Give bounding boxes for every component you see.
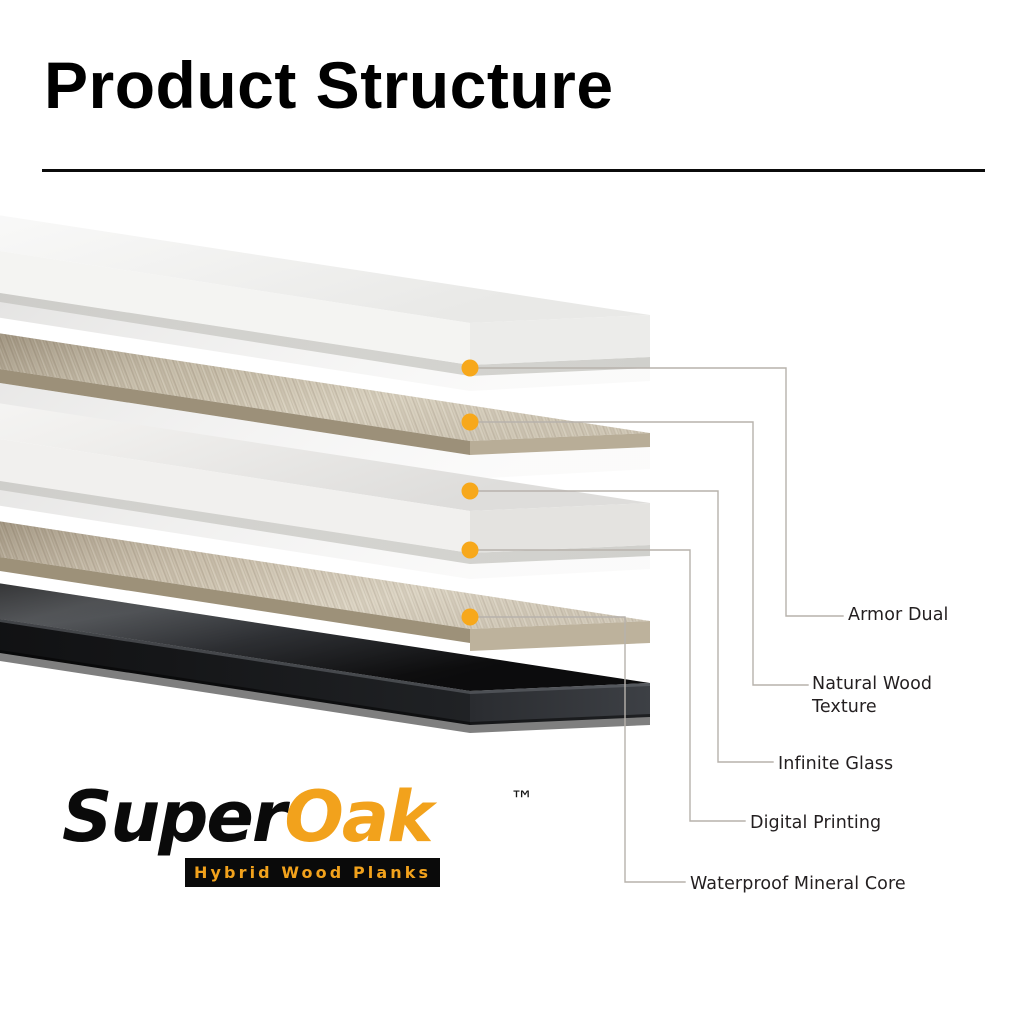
trademark-symbol: ™ [510, 786, 534, 814]
brand-logo: SuperOak ™ Hybrid Wood Planks [62, 782, 562, 894]
title-divider [42, 169, 985, 172]
exploded-layer-diagram [0, 205, 700, 735]
logo-word-accent: Oak [284, 776, 431, 858]
logo-wordmark: SuperOak [62, 782, 432, 852]
logo-tagline-bar: Hybrid Wood Planks [185, 858, 440, 887]
product-structure-page: Product Structure [0, 0, 1024, 1024]
logo-tagline: Hybrid Wood Planks [194, 863, 431, 882]
callout-label-digital-printing: Digital Printing [750, 812, 881, 835]
logo-word-primary: Super [62, 776, 284, 858]
callout-label-waterproof-mineral-core: Waterproof Mineral Core [690, 873, 906, 896]
page-title: Product Structure [44, 52, 614, 118]
callout-label-infinite-glass: Infinite Glass [778, 753, 893, 776]
callout-label-armor-dual: Armor Dual [848, 604, 949, 627]
callout-label-natural-wood-texture: Natural Wood Texture [812, 673, 932, 719]
